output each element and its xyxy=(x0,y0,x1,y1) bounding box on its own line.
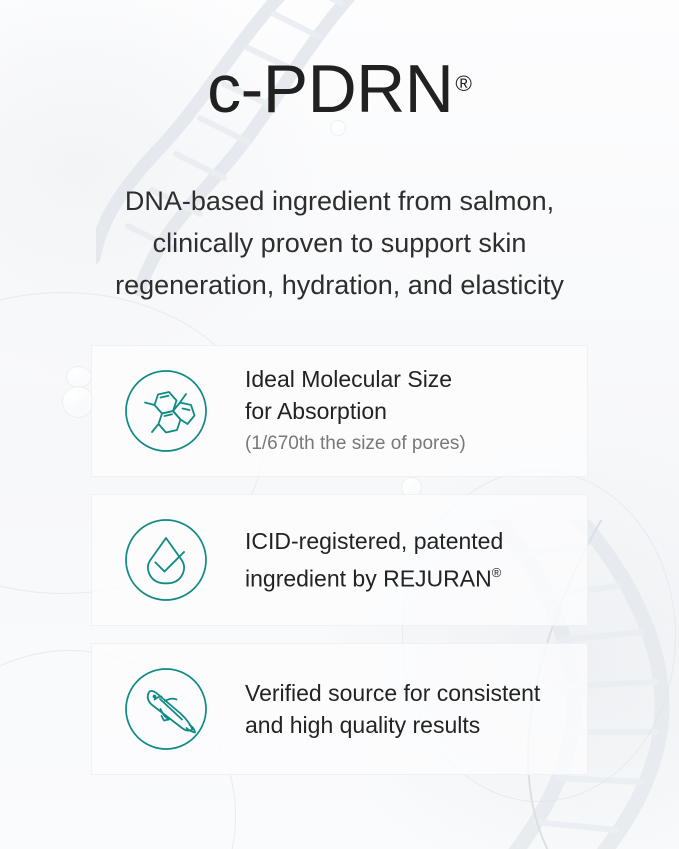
molecule-icon xyxy=(124,369,208,453)
feature-line-2-text: ingredient by REJURAN xyxy=(245,566,492,592)
subtitle-line-2: clinically proven to support skin xyxy=(50,222,629,264)
page-subtitle: DNA-based ingredient from salmon, clinic… xyxy=(50,180,629,306)
feature-line-1: Verified source for consistent xyxy=(245,677,575,709)
registered-trademark-symbol: ® xyxy=(455,71,472,96)
feature-card-list: Ideal Molecular Size for Absorption (1/6… xyxy=(91,345,588,775)
page-title: c-PDRN® xyxy=(0,55,679,123)
feature-line-2: and high quality results xyxy=(245,709,575,741)
feature-card-text: ICID-registered, patented ingredient by … xyxy=(208,525,587,594)
background-bubble-small-1 xyxy=(66,366,92,388)
feature-card-verified-source: Verified source for consistent and high … xyxy=(91,643,588,775)
fish-icon xyxy=(124,667,208,751)
feature-line-1: Ideal Molecular Size xyxy=(245,363,575,395)
water-drop-check-icon xyxy=(124,518,208,602)
feature-line-1: ICID-registered, patented xyxy=(245,525,575,557)
feature-card-text: Verified source for consistent and high … xyxy=(208,677,587,741)
feature-card-molecular-size: Ideal Molecular Size for Absorption (1/6… xyxy=(91,345,588,477)
feature-card-icid-registered: ICID-registered, patented ingredient by … xyxy=(91,494,588,626)
subtitle-line-3: regeneration, hydration, and elasticity xyxy=(50,264,629,306)
feature-line-2: for Absorption xyxy=(245,395,575,427)
subtitle-line-1: DNA-based ingredient from salmon, xyxy=(50,180,629,222)
registered-trademark-symbol: ® xyxy=(492,565,502,580)
product-infographic-page: c-PDRN® DNA-based ingredient from salmon… xyxy=(0,0,679,849)
feature-line-2: ingredient by REJURAN® xyxy=(245,557,575,594)
feature-card-text: Ideal Molecular Size for Absorption (1/6… xyxy=(208,363,587,459)
background-bubble-small-2 xyxy=(62,386,94,418)
page-title-text: c-PDRN xyxy=(207,51,453,127)
feature-subtext: (1/670th the size of pores) xyxy=(245,429,575,459)
